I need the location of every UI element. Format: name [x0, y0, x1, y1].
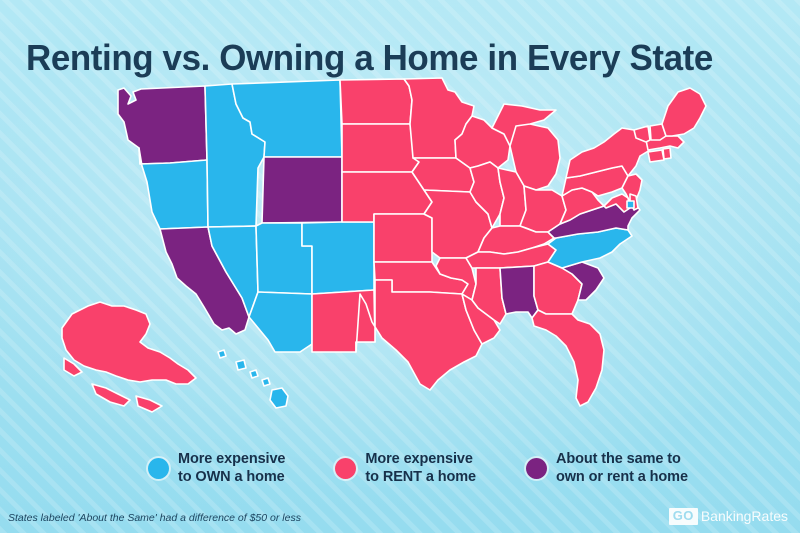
state-CO[interactable]: Colorado	[302, 222, 374, 294]
state-WA[interactable]: Washington	[118, 86, 207, 164]
state-RI[interactable]: Rhode Island	[663, 148, 671, 159]
state-SD[interactable]: South Dakota	[342, 124, 419, 172]
state-WY[interactable]: Wyoming	[262, 157, 342, 223]
legend-label-rent: More expensive to RENT a home	[365, 450, 476, 487]
state-AZ[interactable]: Arizona	[249, 292, 312, 352]
state-AL[interactable]: Alabama	[500, 266, 538, 318]
state-AK[interactable]: Alaska	[62, 302, 196, 412]
logo-go-mark: GO	[669, 508, 698, 525]
legend-item-same[interactable]: About the same to own or rent a home	[526, 450, 688, 487]
legend-item-rent[interactable]: More expensive to RENT a home	[335, 450, 476, 487]
legend-label-same: About the same to own or rent a home	[556, 450, 688, 487]
legend-label-own: More expensive to OWN a home	[178, 450, 285, 487]
logo-wordmark: BankingRates	[701, 508, 788, 524]
state-ME[interactable]: Maine	[662, 88, 706, 136]
state-DC[interactable]: District of Columbia	[627, 201, 634, 208]
map-svg: Washington Oregon Idaho Montana Wyoming …	[0, 62, 800, 432]
footnote-text: States labeled 'About the Same' had a di…	[8, 512, 301, 524]
legend-item-own[interactable]: More expensive to OWN a home	[148, 450, 285, 487]
state-FL[interactable]: Florida	[532, 310, 604, 406]
legend-swatch-rent-icon	[335, 458, 356, 479]
map-legend: More expensive to OWN a home More expens…	[148, 450, 688, 487]
gobankingrates-logo[interactable]: GO BankingRates	[669, 508, 788, 525]
legend-swatch-same-icon	[526, 458, 547, 479]
infographic-canvas: Renting vs. Owning a Home in Every State…	[0, 0, 800, 533]
legend-swatch-own-icon	[148, 458, 169, 479]
state-KS[interactable]: Kansas	[374, 214, 432, 262]
state-CT[interactable]: Connecticut	[648, 150, 664, 162]
state-HI[interactable]: Hawaii	[218, 350, 288, 408]
us-choropleth-map: Washington Oregon Idaho Montana Wyoming …	[0, 62, 800, 432]
state-ND[interactable]: North Dakota	[340, 79, 412, 124]
